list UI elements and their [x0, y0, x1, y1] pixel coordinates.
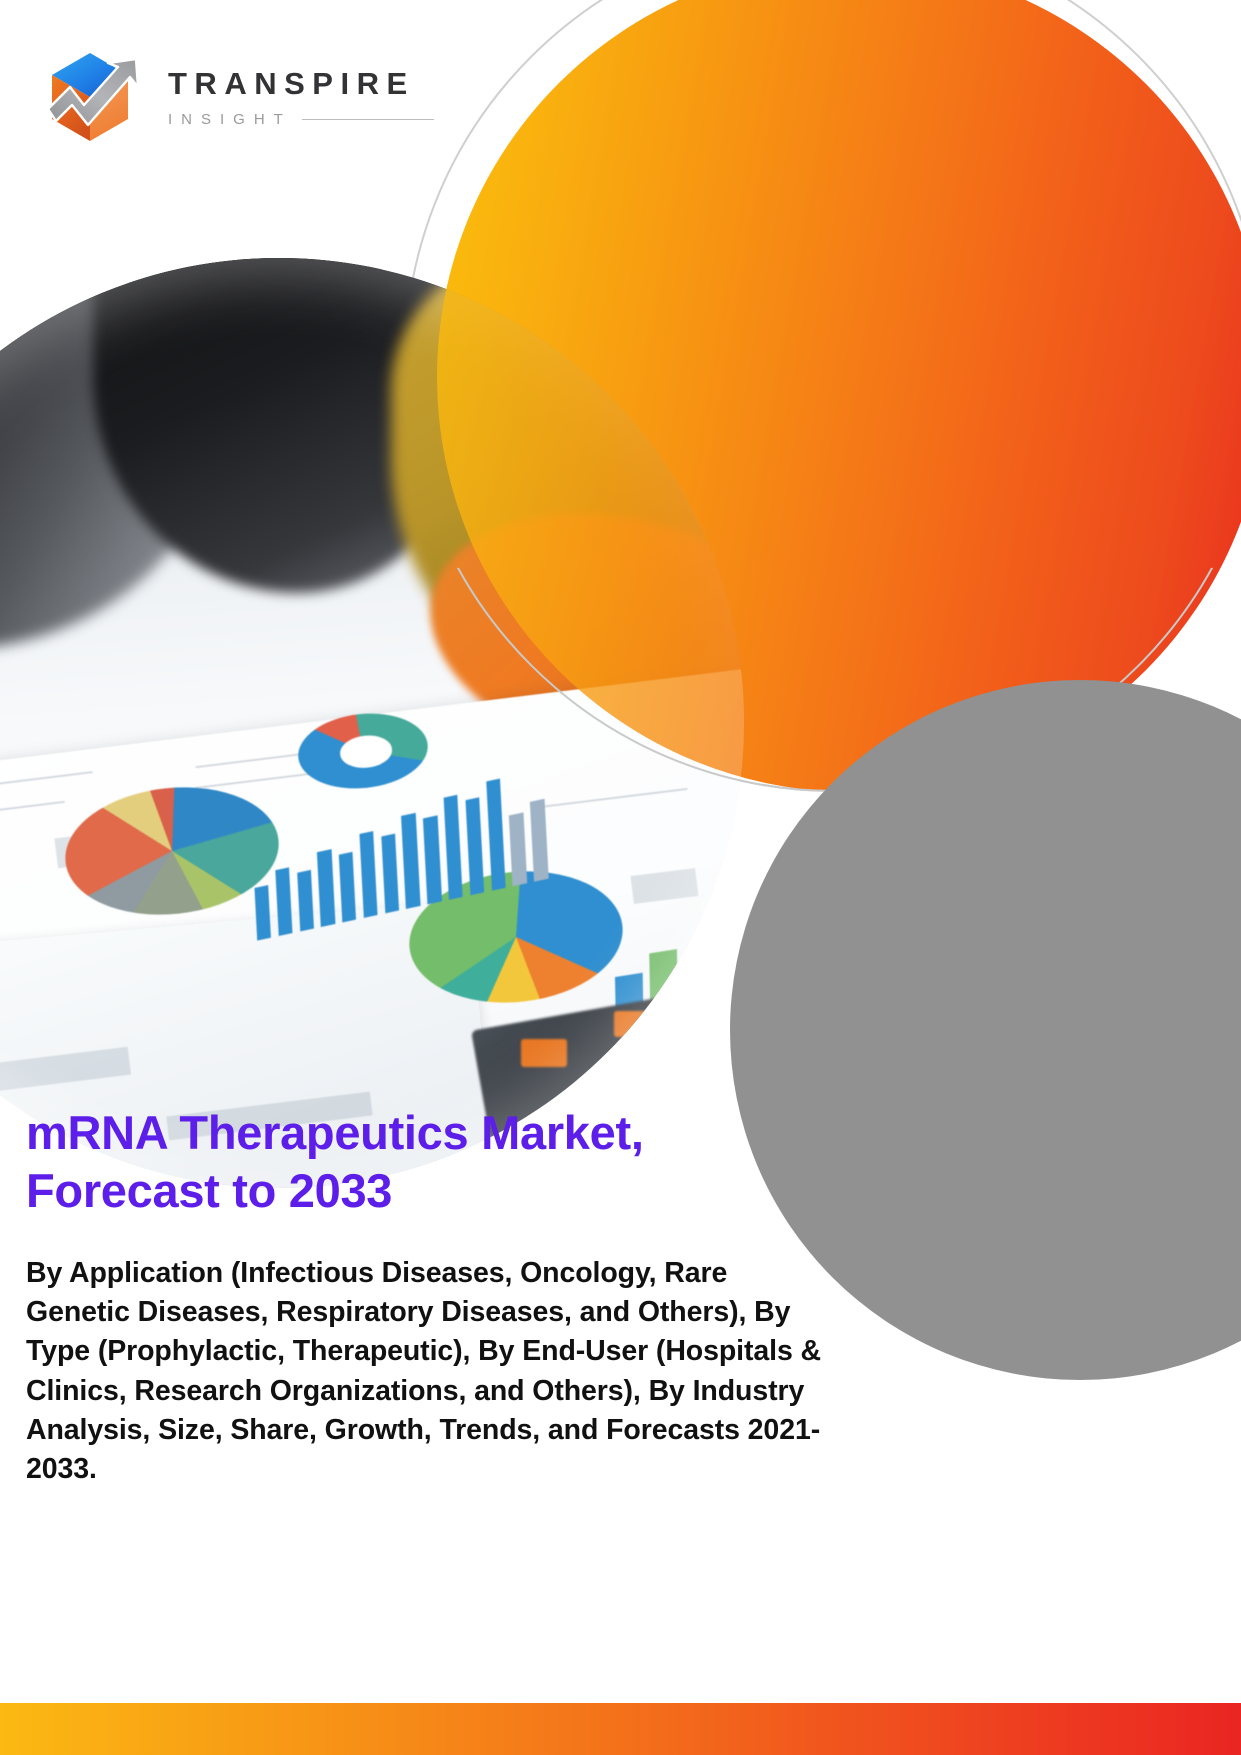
brand-name: TRANSPIRE	[168, 68, 434, 99]
transpire-hexagon-arrow-logo-icon	[40, 45, 152, 150]
cover-text-block: mRNA Therapeutics Market, Forecast to 20…	[26, 1104, 836, 1490]
photo-calculator-key	[614, 1011, 656, 1037]
page-subtitle: By Application (Infectious Diseases, Onc…	[26, 1254, 836, 1490]
brand-tagline: INSIGHT	[168, 112, 292, 127]
brand-tagline-row: INSIGHT	[168, 112, 434, 127]
photo-calculator-key	[521, 1039, 568, 1067]
page-title: mRNA Therapeutics Market, Forecast to 20…	[26, 1104, 836, 1220]
report-cover-page: TRANSPIRE INSIGHT mRNA Therapeutics Mark…	[0, 0, 1241, 1755]
brand-logo-text: TRANSPIRE INSIGHT	[168, 68, 434, 127]
brand-rule-divider	[302, 119, 434, 120]
brand-logo[interactable]: TRANSPIRE INSIGHT	[40, 45, 434, 150]
bottom-gradient-bar	[0, 1703, 1241, 1755]
